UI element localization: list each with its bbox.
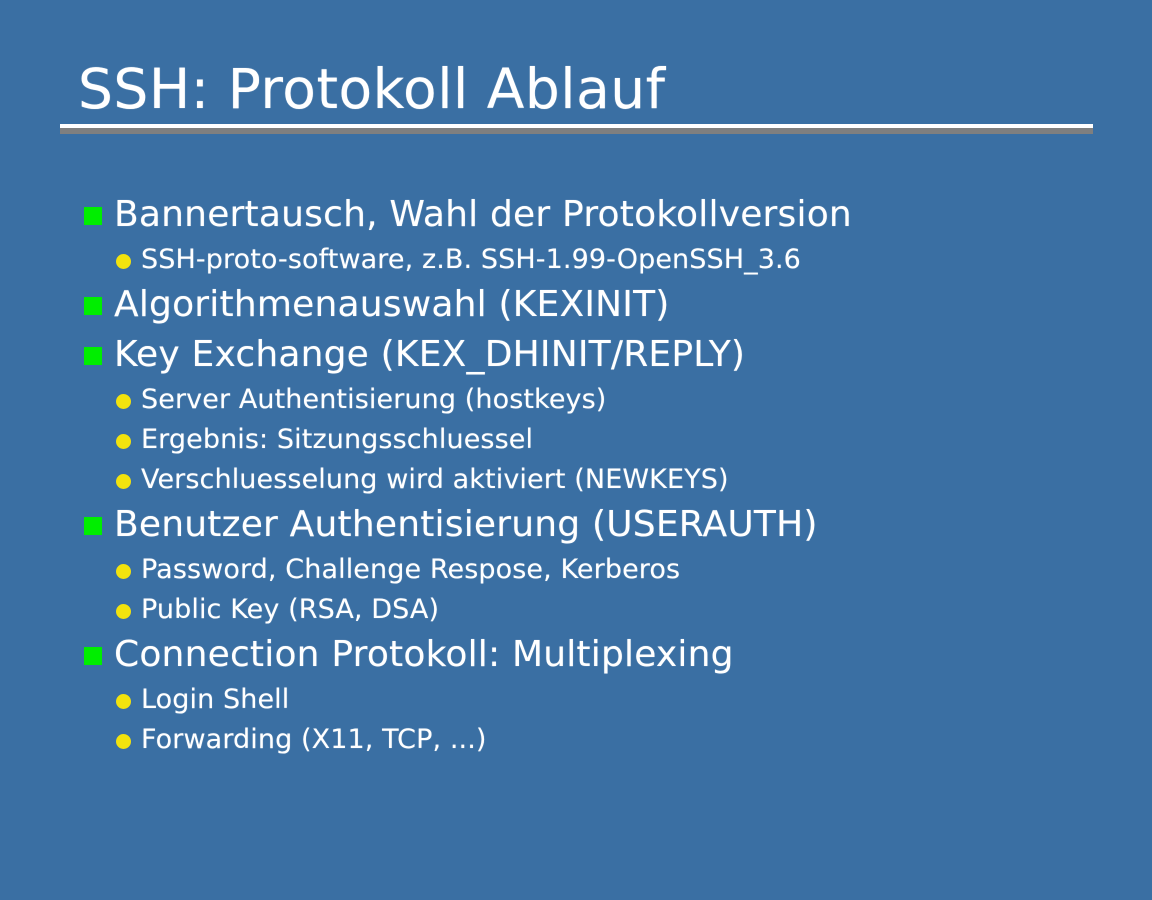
green-square-bullet-icon — [84, 647, 102, 665]
bullet-text: Public Key (RSA, DSA) — [141, 590, 439, 630]
bullet-item-level-1: Bannertausch, Wahl der Protokollversion — [84, 190, 1104, 240]
bullet-item-level-2: Server Authentisierung (hostkeys) — [84, 380, 1104, 420]
bullet-text: Server Authentisierung (hostkeys) — [141, 380, 606, 420]
yellow-dot-bullet-icon — [116, 734, 131, 749]
bullet-item-level-2: Public Key (RSA, DSA) — [84, 590, 1104, 630]
bullet-text: Algorithmenauswahl (KEXINIT) — [114, 280, 670, 330]
bullet-item-level-1: Connection Protokoll: Multiplexing — [84, 630, 1104, 680]
bullet-text: Connection Protokoll: Multiplexing — [114, 630, 734, 680]
yellow-dot-bullet-icon — [116, 434, 131, 449]
green-square-bullet-icon — [84, 297, 102, 315]
green-square-bullet-icon — [84, 347, 102, 365]
green-square-bullet-icon — [84, 207, 102, 225]
yellow-dot-bullet-icon — [116, 394, 131, 409]
bullet-item-level-2: Ergebnis: Sitzungsschluessel — [84, 420, 1104, 460]
presentation-slide: SSH: Protokoll Ablauf Bannertausch, Wahl… — [0, 0, 1152, 900]
bullet-item-level-2: SSH-proto-software, z.B. SSH-1.99-OpenSS… — [84, 240, 1104, 280]
bullet-item-level-2: Forwarding (X11, TCP, ...) — [84, 720, 1104, 760]
bullet-item-level-2: Password, Challenge Respose, Kerberos — [84, 550, 1104, 590]
bullet-item-level-1: Algorithmenauswahl (KEXINIT) — [84, 280, 1104, 330]
slide-title-block: SSH: Protokoll Ablauf — [60, 56, 1093, 134]
page-title: SSH: Protokoll Ablauf — [60, 56, 1093, 122]
title-divider-gray-line — [60, 128, 1093, 134]
bullet-text: Login Shell — [141, 680, 289, 720]
bullet-item-level-2: Login Shell — [84, 680, 1104, 720]
bullet-text: Benutzer Authentisierung (USERAUTH) — [114, 500, 818, 550]
yellow-dot-bullet-icon — [116, 694, 131, 709]
bullet-text: Ergebnis: Sitzungsschluessel — [141, 420, 533, 460]
bullet-text: SSH-proto-software, z.B. SSH-1.99-OpenSS… — [141, 240, 801, 280]
title-divider — [60, 124, 1093, 134]
bullet-item-level-1: Benutzer Authentisierung (USERAUTH) — [84, 500, 1104, 550]
yellow-dot-bullet-icon — [116, 474, 131, 489]
bullet-text: Forwarding (X11, TCP, ...) — [141, 720, 487, 760]
bullet-text: Verschluesselung wird aktiviert (NEWKEYS… — [141, 460, 729, 500]
bullet-text: Password, Challenge Respose, Kerberos — [141, 550, 680, 590]
bullet-item-level-1: Key Exchange (KEX_DHINIT/REPLY) — [84, 330, 1104, 380]
yellow-dot-bullet-icon — [116, 254, 131, 269]
green-square-bullet-icon — [84, 517, 102, 535]
yellow-dot-bullet-icon — [116, 564, 131, 579]
bullet-text: Key Exchange (KEX_DHINIT/REPLY) — [114, 330, 745, 380]
yellow-dot-bullet-icon — [116, 604, 131, 619]
bullet-item-level-2: Verschluesselung wird aktiviert (NEWKEYS… — [84, 460, 1104, 500]
slide-bullet-list: Bannertausch, Wahl der ProtokollversionS… — [84, 190, 1104, 760]
bullet-text: Bannertausch, Wahl der Protokollversion — [114, 190, 852, 240]
